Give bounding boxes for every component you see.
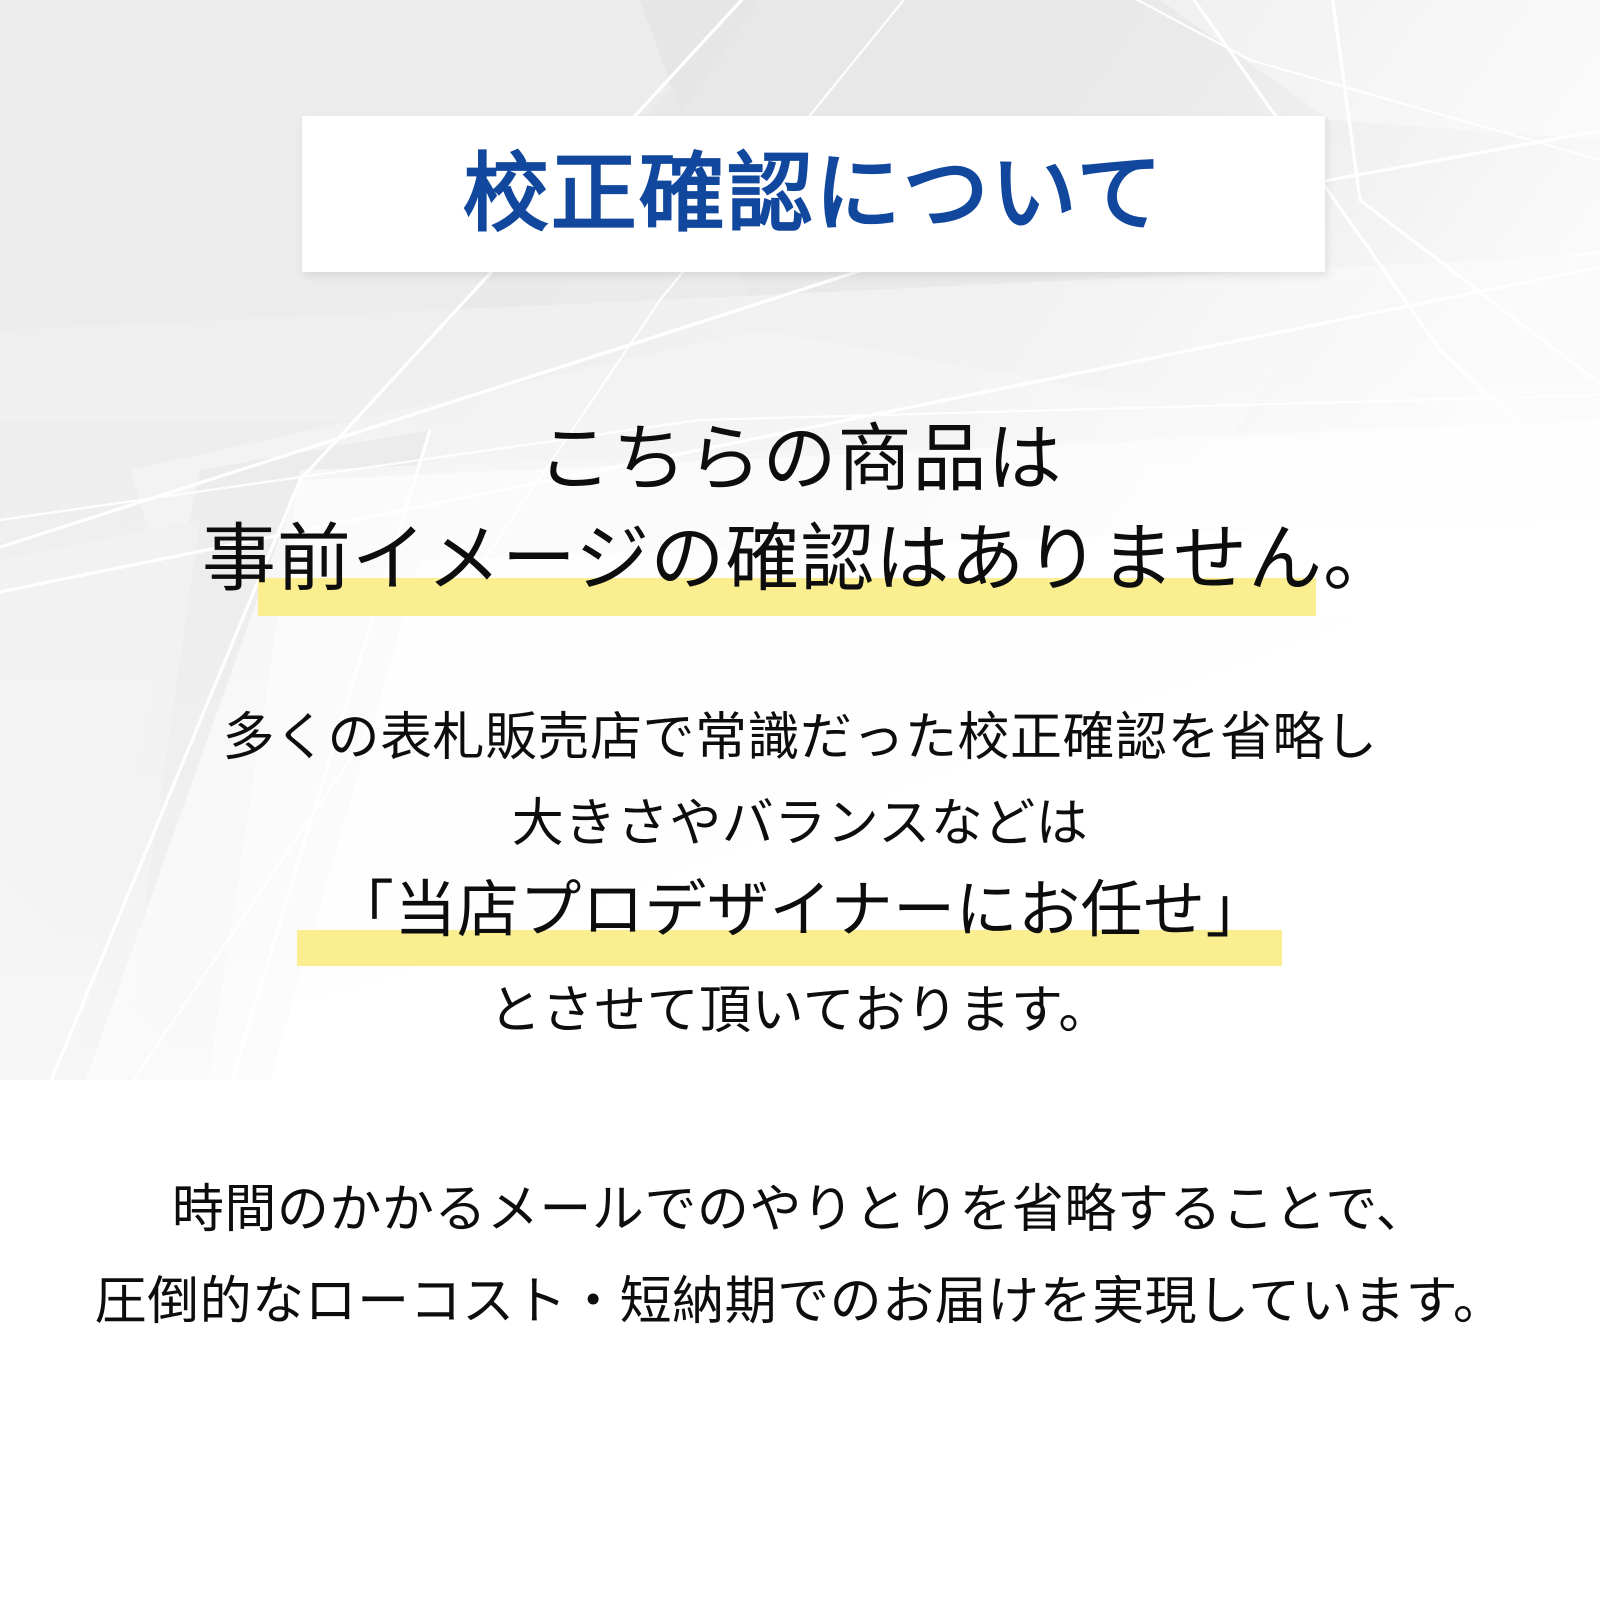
body-line-3-text: 「当店プロデザイナーにお任せ」	[332, 880, 1268, 942]
body-line-1-text: 多くの表札販売店で常識だった校正確認を省略し	[222, 712, 1377, 764]
body-line-2: 大きさやバランスなどは	[0, 798, 1600, 850]
footer-line-1-text: 時間のかかるメールでのやりとりを省略することで、	[172, 1184, 1428, 1236]
body-line-3-quote: 「当店プロデザイナーにお任せ」	[0, 880, 1600, 942]
page-title: 校正確認について	[302, 116, 1325, 272]
body-line-1: 多くの表札販売店で常識だった校正確認を省略し	[0, 712, 1600, 764]
promo-banner: 校正確認について こちらの商品は 事前イメージの確認はありません。 多くの表札販…	[0, 0, 1600, 1600]
lead-line-2-text: 事前イメージの確認はありません。	[202, 522, 1398, 596]
lead-line-1: こちらの商品は	[0, 422, 1600, 496]
footer-line-1: 時間のかかるメールでのやりとりを省略することで、	[0, 1184, 1600, 1236]
lead-line-1-text: こちらの商品は	[538, 422, 1063, 496]
footer-line-2: 圧倒的なローコスト・短納期でのお届けを実現しています。	[0, 1276, 1600, 1328]
footer-line-2-text: 圧倒的なローコスト・短納期でのお届けを実現しています。	[95, 1276, 1506, 1328]
body-line-2-text: 大きさやバランスなどは	[512, 798, 1088, 850]
body-line-4: とさせて頂いております。	[0, 985, 1600, 1037]
lead-line-2: 事前イメージの確認はありません。	[0, 522, 1600, 596]
body-line-4-text: とさせて頂いております。	[489, 985, 1111, 1037]
